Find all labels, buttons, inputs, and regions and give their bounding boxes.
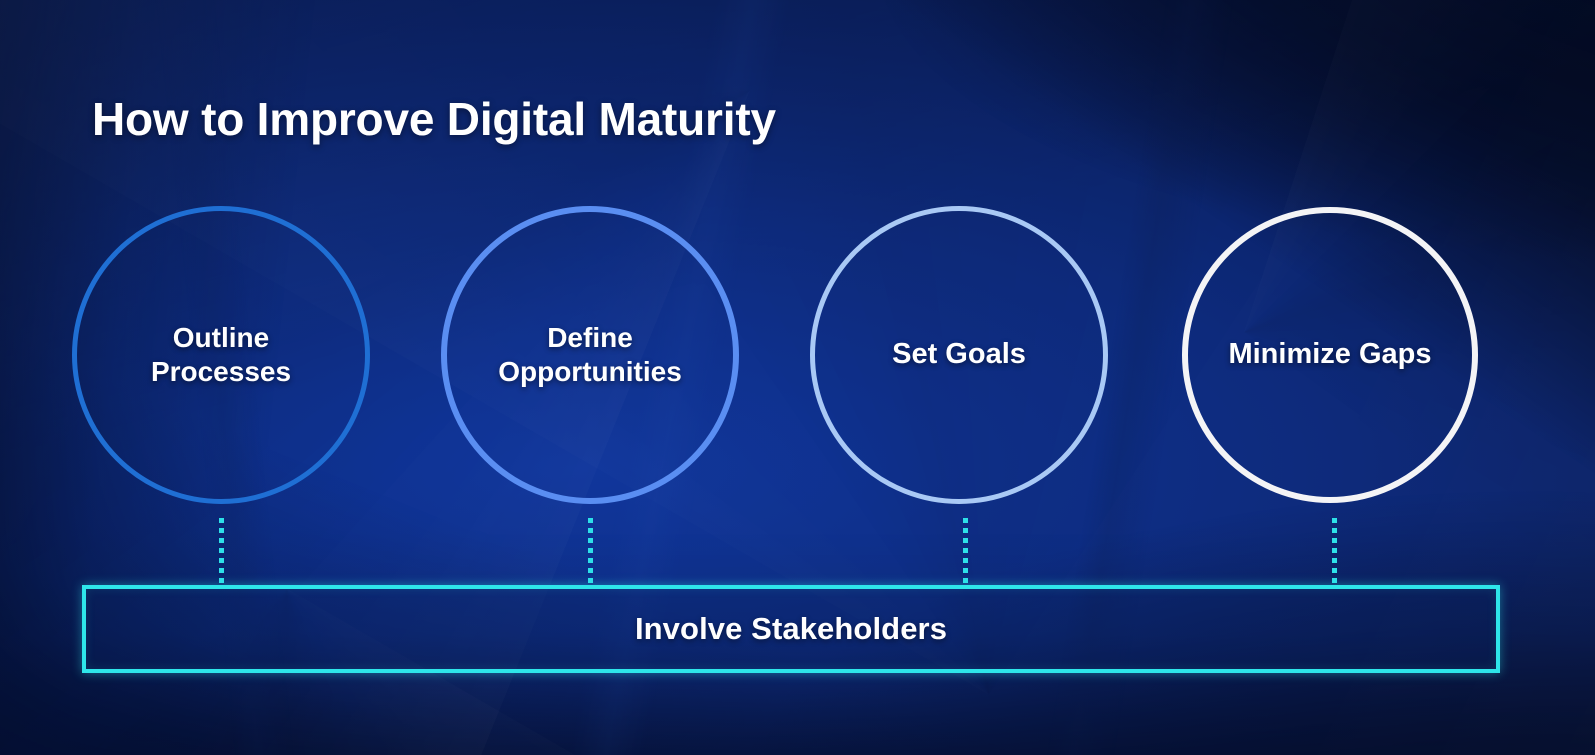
dotted-connector: [219, 518, 224, 586]
process-step-circle[interactable]: Set Goals: [810, 206, 1108, 504]
process-step-circle[interactable]: Minimize Gaps: [1182, 207, 1478, 503]
process-step-label: Set Goals: [882, 337, 1036, 372]
process-step-circle[interactable]: OutlineProcesses: [72, 206, 370, 504]
process-step-label: OutlineProcesses: [141, 321, 301, 389]
involve-stakeholders-label: Involve Stakeholders: [635, 611, 947, 647]
dotted-connector: [588, 518, 593, 586]
slide-canvas: How to Improve Digital Maturity OutlineP…: [0, 0, 1595, 755]
dotted-connector: [1332, 518, 1337, 586]
process-step-circle[interactable]: DefineOpportunities: [441, 206, 739, 504]
dotted-connector: [963, 518, 968, 586]
process-step-label: DefineOpportunities: [488, 321, 692, 389]
involve-stakeholders-bar[interactable]: Involve Stakeholders: [82, 585, 1500, 673]
process-step-label: Minimize Gaps: [1218, 337, 1441, 372]
page-title: How to Improve Digital Maturity: [92, 92, 776, 146]
